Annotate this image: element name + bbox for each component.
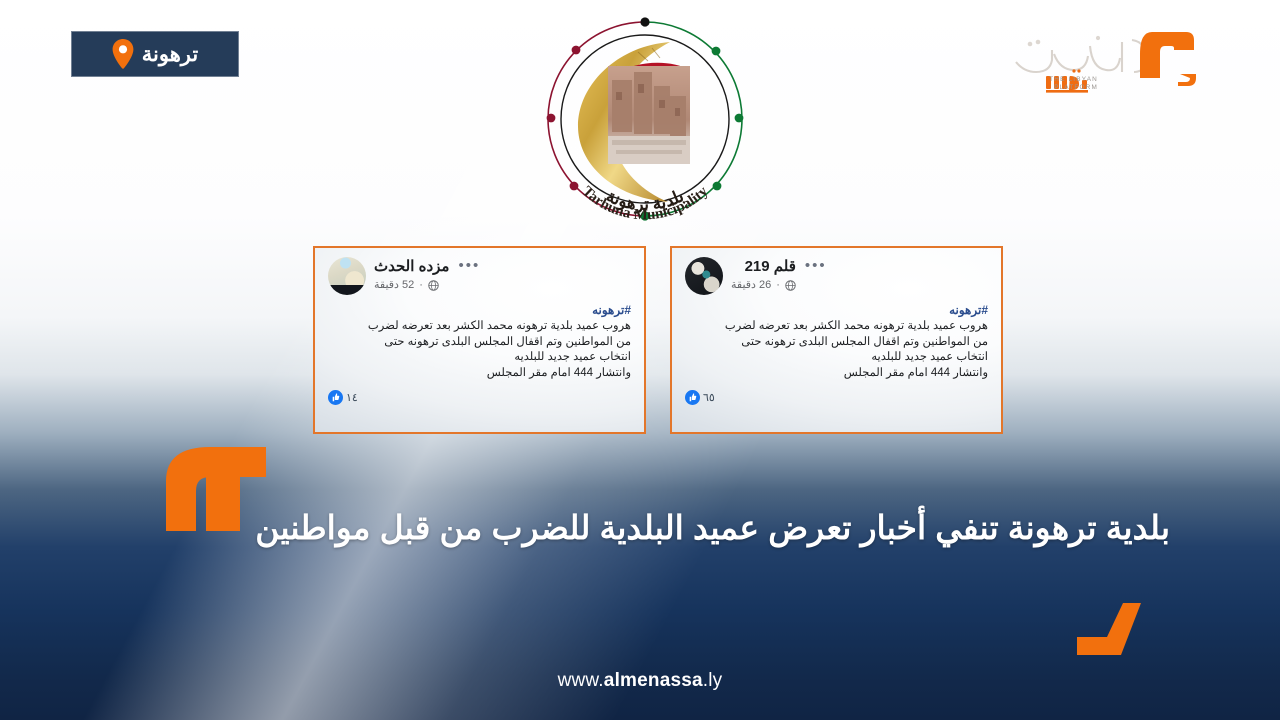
post-header: قلم 219 26 دقيقة · ••• (685, 257, 988, 297)
post-screenshots: مزده الحدث 52 دقيقة · ••• (313, 246, 1003, 438)
url-suffix: .ly (703, 670, 723, 691)
post-author: قلم 219 (731, 258, 796, 276)
thumbs-up-icon (685, 390, 700, 405)
quote-close-icon (1077, 603, 1149, 655)
dot-separator: · (419, 278, 423, 292)
globe-icon (428, 280, 439, 291)
thumbs-up-icon (328, 390, 343, 405)
location-badge: ترهونة (71, 31, 239, 77)
almenassa-logo: THE LIBYAN PLATFORM (1002, 24, 1202, 96)
post-hashtag[interactable]: #ترهونه (328, 303, 631, 318)
post-timestamp: 26 دقيقة (731, 278, 771, 292)
page-title: بلدية ترهونة تنفي أخبار تعرض عميد البلدي… (250, 505, 1170, 551)
post-hashtag[interactable]: #ترهونه (685, 303, 988, 318)
tarhuna-municipality-seal: بلدية ترهونة Tarhuna Municipality (520, 8, 770, 233)
like-count: ٦٥ (703, 391, 715, 404)
avatar-dark-image (685, 257, 723, 295)
globe-icon (785, 280, 796, 291)
site-url[interactable]: www.almenassa.ly (0, 670, 1280, 692)
post-subline: 52 دقيقة · (374, 278, 449, 292)
dot-separator: · (776, 278, 780, 292)
svg-text:PLATFORM: PLATFORM (1054, 84, 1098, 91)
post-timestamp: 52 دقيقة (374, 278, 414, 292)
avatar-map-image (328, 257, 366, 295)
headline-block: بلدية ترهونة تنفي أخبار تعرض عميد البلدي… (250, 505, 1170, 551)
post-header: مزده الحدث 52 دقيقة · ••• (328, 257, 631, 297)
three-dots-icon[interactable]: ••• (458, 257, 480, 271)
post-meta: مزده الحدث 52 دقيقة · (374, 257, 449, 292)
post-body: هروب عميد بلدية ترهونه محمد الكشر بعد تع… (328, 319, 631, 381)
svg-text:THE LIBYAN: THE LIBYAN (1049, 76, 1098, 83)
like-count: ١٤ (346, 391, 358, 404)
post-author: مزده الحدث (374, 258, 449, 276)
post-card[interactable]: قلم 219 26 دقيقة · ••• (670, 246, 1003, 434)
post-meta: قلم 219 26 دقيقة · (731, 257, 796, 292)
url-brand: almenassa (604, 670, 703, 691)
three-dots-icon[interactable]: ••• (805, 257, 827, 271)
map-pin-icon (112, 39, 134, 69)
url-prefix: www. (558, 670, 604, 691)
post-card[interactable]: مزده الحدث 52 دقيقة · ••• (313, 246, 646, 434)
location-badge-label: ترهونة (142, 42, 198, 67)
post-body: هروب عميد بلدية ترهونه محمد الكشر بعد تع… (685, 319, 988, 381)
post-reactions: ١٤ (328, 390, 631, 405)
post-subline: 26 دقيقة · (731, 278, 796, 292)
post-reactions: ٦٥ (685, 390, 988, 405)
poster-canvas: ترهونة (0, 0, 1280, 720)
